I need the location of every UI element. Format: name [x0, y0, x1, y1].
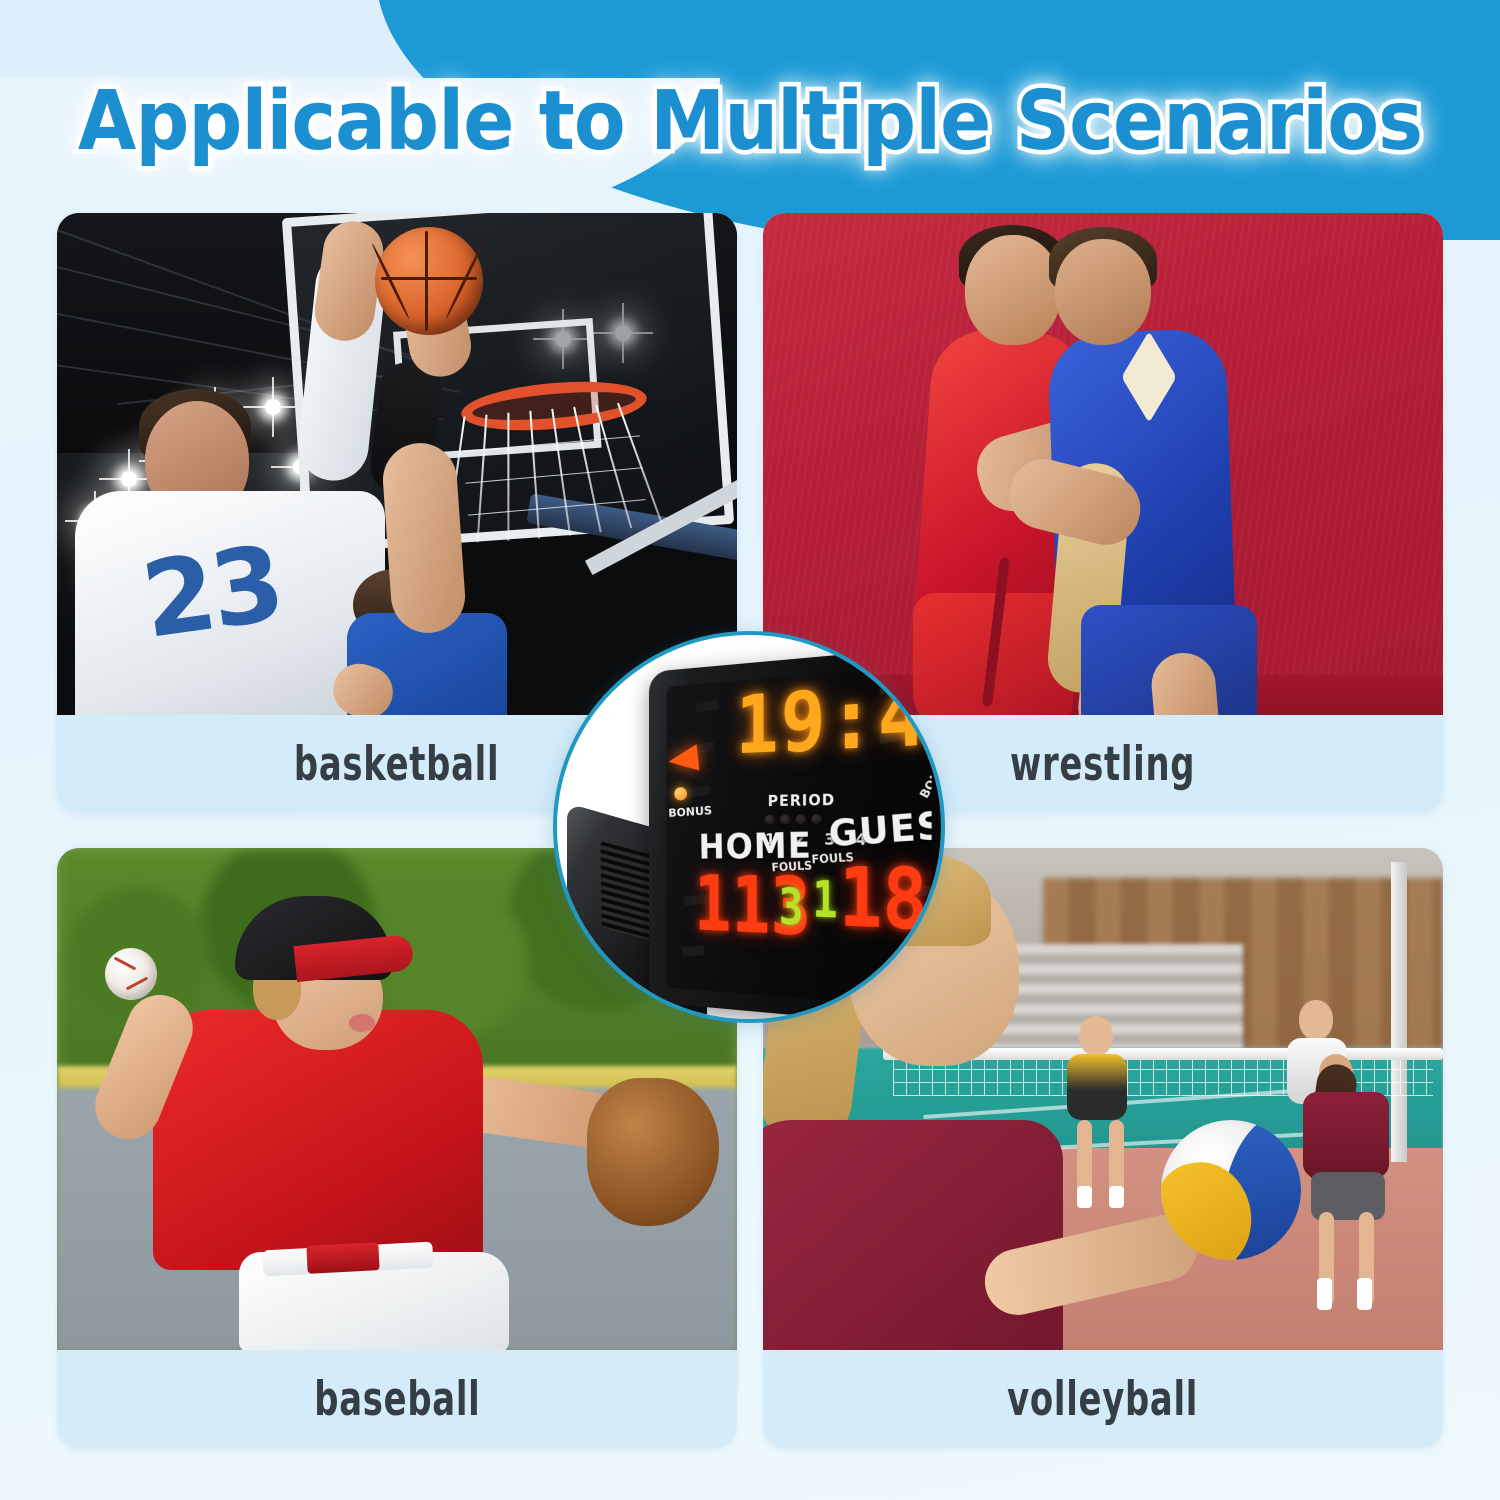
home-fouls-display: 3 — [779, 881, 804, 934]
background-player-leg — [1109, 1120, 1124, 1196]
player-head — [1079, 1016, 1113, 1056]
background-player-leg — [1077, 1120, 1092, 1196]
home-fouls-label: FOULS — [771, 858, 813, 874]
period-dot — [796, 814, 806, 824]
caption-label: wrestling — [1010, 737, 1195, 792]
coach-head — [1299, 1000, 1333, 1040]
scoreboard-body: BONUS BONUS 19:44 PERIOD 1 2 3 4 HOME GU… — [649, 645, 945, 1023]
period-label: PERIOD — [768, 792, 835, 811]
background-player-jersey — [1067, 1054, 1127, 1120]
bonus-indicator-lamp — [674, 787, 687, 801]
pitcher-tongue — [349, 1014, 375, 1032]
net-post — [1391, 862, 1407, 1162]
coach-figure — [1299, 1000, 1333, 1040]
defender-arm — [380, 441, 467, 636]
belt-buckle — [306, 1242, 379, 1274]
possession-arrow-indicator — [667, 744, 699, 775]
period-indicator-dots — [765, 814, 822, 824]
caption-label: baseball — [314, 1372, 480, 1427]
ceiling-light — [265, 399, 281, 415]
page-title: Applicable to Multiple Scenarios — [60, 76, 1440, 168]
scoreboard-product: BONUS BONUS 19:44 PERIOD 1 2 3 4 HOME GU… — [557, 635, 945, 1023]
period-dot — [780, 814, 790, 824]
guest-score-display: 181 — [839, 856, 932, 947]
jersey-number: 23 — [135, 522, 287, 662]
volleyball-ball — [1161, 1120, 1301, 1260]
period-dot — [765, 815, 775, 825]
background-player — [1079, 1016, 1113, 1056]
right-player-jersey — [1303, 1092, 1389, 1178]
red-wrestler-head — [965, 235, 1061, 345]
game-timer-display: 19:44 — [735, 665, 931, 766]
scoreboard-display: BONUS BONUS 19:44 PERIOD 1 2 3 4 HOME GU… — [666, 665, 931, 1009]
foreground-player-jersey-maroon — [763, 1120, 1063, 1350]
blue-wrestler-head — [1055, 239, 1151, 345]
caption-label: basketball — [294, 737, 499, 792]
caption-bar-baseball: baseball — [57, 1350, 737, 1448]
guest-fouls-display: 1 — [812, 873, 837, 926]
basketball-net — [460, 401, 649, 548]
guest-team-label: GUEST — [827, 800, 931, 855]
baseball-ball — [105, 948, 157, 1000]
caption-label: volleyball — [1008, 1372, 1199, 1427]
bonus-label-left: BONUS — [668, 804, 712, 820]
caption-bar-volleyball: volleyball — [763, 1350, 1443, 1448]
product-highlight-badge[interactable]: BONUS BONUS 19:44 PERIOD 1 2 3 4 HOME GU… — [553, 631, 945, 1023]
ceiling-light — [121, 471, 137, 487]
period-dot — [811, 814, 821, 824]
basketball-ball — [375, 227, 483, 335]
